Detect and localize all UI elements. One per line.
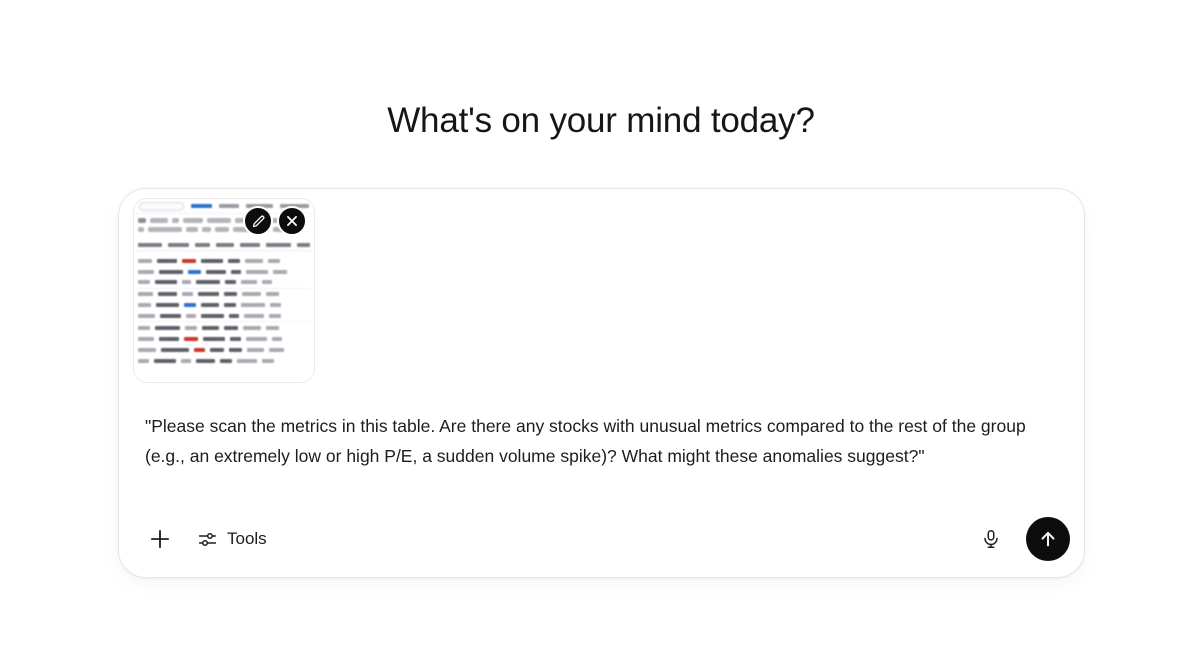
voice-input-button[interactable] [976,524,1006,554]
mini-search-bar [139,202,184,211]
table-row [138,322,310,333]
remove-attachment-button[interactable] [277,206,307,236]
composer-card: "Please scan the metrics in this table. … [118,188,1085,578]
table-row [138,277,310,288]
arrow-up-icon [1037,528,1059,550]
table-row [138,311,310,322]
composer-toolbar-right [976,517,1070,561]
table-row [138,255,310,266]
tools-label: Tools [227,529,267,549]
table-row [138,289,310,300]
table-row [138,345,310,356]
sliders-icon [197,529,218,550]
attachment-thumbnail[interactable] [133,198,315,383]
composer-toolbar: Tools [119,501,1084,577]
send-button[interactable] [1026,517,1070,561]
composer-toolbar-left: Tools [145,524,267,554]
microphone-icon [980,528,1002,550]
edit-attachment-button[interactable] [243,206,273,236]
mini-column-headers [134,240,314,251]
add-attachment-button[interactable] [145,524,175,554]
app-root: What's on your mind today? [0,0,1202,664]
mini-nav-item [219,204,238,208]
pencil-icon [251,214,266,229]
tools-button[interactable]: Tools [197,529,267,550]
table-row [138,266,310,277]
plus-icon [147,526,173,552]
mini-table-body [134,252,314,382]
page-title: What's on your mind today? [0,98,1202,144]
table-row [138,333,310,344]
prompt-input[interactable]: "Please scan the metrics in this table. … [145,411,1065,471]
close-x-icon [285,214,299,228]
mini-nav-item [191,204,212,208]
table-row [138,300,310,311]
table-row [138,356,310,367]
